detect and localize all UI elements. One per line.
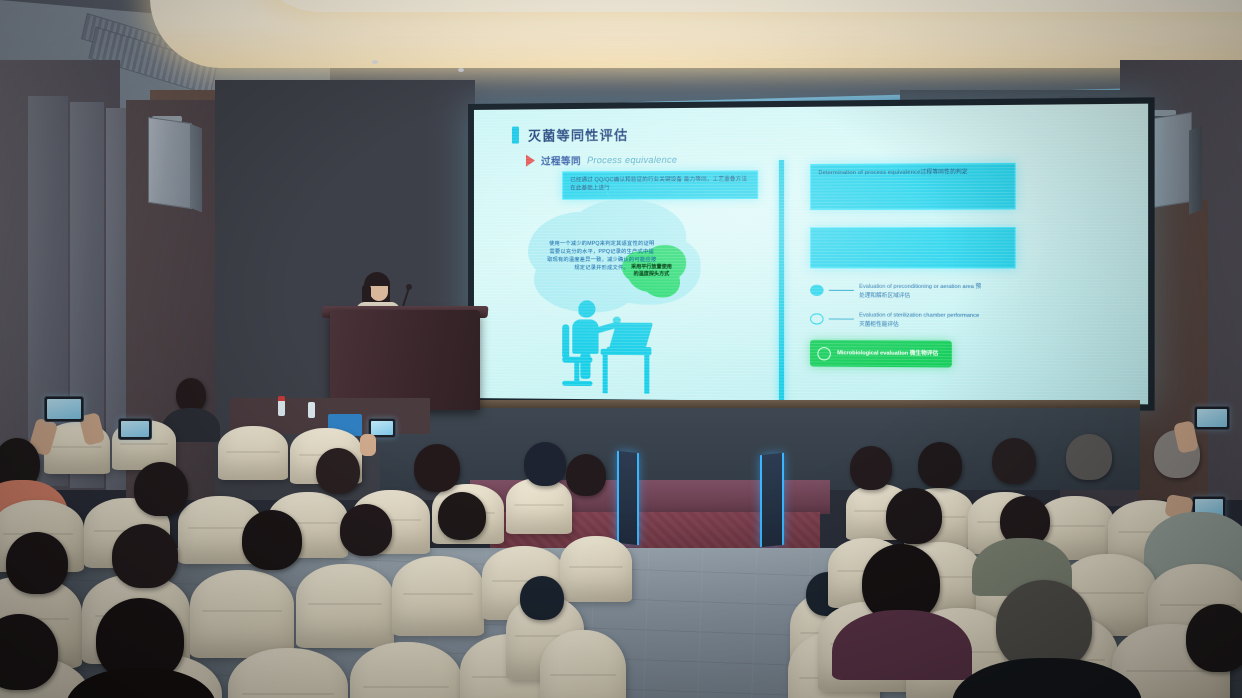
slide-right-box-1: Determination of process equivalence过程等同… <box>810 163 1016 210</box>
smartphone-screen <box>121 421 149 437</box>
microphone-head-icon <box>406 284 412 290</box>
wall-speaker-left-icon <box>148 117 192 209</box>
water-bottle <box>278 400 285 416</box>
audience-head <box>134 462 188 516</box>
audience-head <box>886 488 942 544</box>
smartphone[interactable] <box>44 396 84 422</box>
ceiling-downlight <box>458 68 464 72</box>
audience-head <box>340 504 392 556</box>
chair <box>296 564 394 648</box>
smartphone[interactable] <box>118 418 152 440</box>
audience-head <box>918 442 962 488</box>
slide-bullet-1-text: Evaluation of preconditioning or aeratio… <box>859 283 986 301</box>
audience-head <box>242 510 302 570</box>
chair <box>560 536 632 602</box>
slide-subtitle-en: Process equivalence <box>587 155 677 166</box>
slide-title: 灭菌等同性评估 <box>528 125 628 145</box>
triangle-bullet-icon <box>526 155 535 167</box>
audience-head <box>992 438 1036 484</box>
chair <box>540 630 626 698</box>
slide-bullet-2-cn: 灭菌柜性能评估 <box>859 321 899 327</box>
bullet-leader-line <box>829 290 854 291</box>
chair <box>506 478 572 534</box>
slide-vertical-divider <box>779 160 784 404</box>
slide-green-pill: Microbiological evaluation 微生物评估 <box>810 340 952 368</box>
slide-green-pill-text: Microbiological evaluation 微生物评估 <box>837 349 938 358</box>
green-pill-number-icon <box>817 347 831 360</box>
chair <box>218 426 288 480</box>
audience-head <box>438 492 486 540</box>
slide-title-accent-bar <box>512 127 519 144</box>
water-bottle <box>308 402 315 418</box>
smartphone-screen <box>1197 409 1227 427</box>
audience-hand <box>360 434 376 456</box>
audience-head <box>6 532 68 594</box>
chair <box>190 570 294 658</box>
green-pill-cn: 微生物评估 <box>910 351 938 357</box>
ceiling-downlight <box>372 60 378 64</box>
bullet-leader-line <box>829 318 854 319</box>
audience-head <box>566 454 606 496</box>
audience-area <box>0 380 1242 698</box>
smartphone[interactable] <box>1194 406 1230 430</box>
slide-bullet-1: Evaluation of preconditioning or aeratio… <box>810 283 986 301</box>
audience-head <box>316 448 360 494</box>
wall-speaker-left-side <box>190 124 202 213</box>
smartphone-screen <box>371 421 393 435</box>
wall-speaker-right-side <box>1189 125 1202 214</box>
slide-bullet-2-en: Evaluation of sterilization chamber perf… <box>859 312 979 319</box>
chair <box>350 642 462 698</box>
audience-head <box>520 576 564 620</box>
slide-right-box-2 <box>810 227 1016 268</box>
audience-head <box>112 524 178 588</box>
green-pill-en: Microbiological evaluation <box>837 350 908 357</box>
projection-screen-frame: 灭菌等同性评估 过程等同 Process equivalence 已经通过 QQ… <box>468 97 1155 410</box>
chair <box>392 556 484 636</box>
audience-head <box>850 446 892 490</box>
audience-head <box>1066 434 1112 480</box>
smartphone-screen <box>47 399 81 419</box>
slide-bullet-2: Evaluation of sterilization chamber perf… <box>810 311 986 330</box>
slide-top-callout: 已经通过 QQ/QC确认和验证的行业关键设备 能力等同，工艺重叠方法在此基础上进… <box>562 170 758 199</box>
slide-subtitle-cn: 过程等同 <box>541 153 581 167</box>
slide-bullet-1-en: Evaluation of preconditioning or aeratio… <box>859 284 974 290</box>
audience-head <box>176 378 206 412</box>
slide-green-cloud-text: 采用平行放置使用的温度探头方式 <box>629 264 674 279</box>
slide-subtitle-row: 过程等同 Process equivalence <box>526 153 677 168</box>
ceiling-cove-light-inner <box>250 0 1242 12</box>
slide-bullet-2-text: Evaluation of sterilization chamber perf… <box>859 311 986 329</box>
presenter-hair-front <box>368 276 390 286</box>
projection-screen: 灭菌等同性评估 过程等同 Process equivalence 已经通过 QQ… <box>474 104 1148 405</box>
slide-title-row: 灭菌等同性评估 <box>512 125 628 145</box>
audience-shoulders <box>832 610 972 680</box>
bullet-dot-icon <box>810 285 824 296</box>
water-bottle-cap <box>278 396 285 401</box>
audience-head <box>1186 604 1242 672</box>
audience-head <box>414 444 460 492</box>
bullet-dot-hollow-icon <box>810 313 824 324</box>
audience-head <box>524 442 566 486</box>
conference-hall-photo: 灭菌等同性评估 过程等同 Process equivalence 已经通过 QQ… <box>0 0 1242 698</box>
